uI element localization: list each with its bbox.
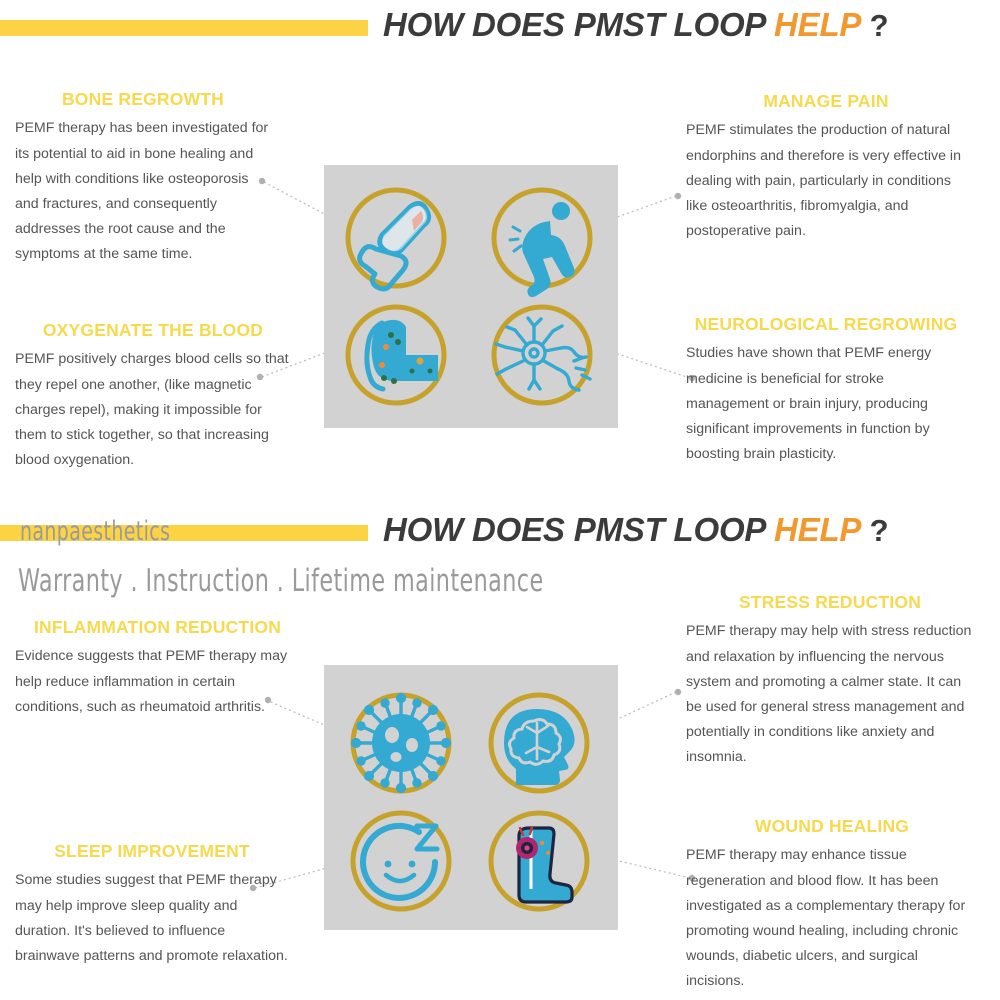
blood-vessel-icon: [348, 307, 444, 403]
title-main: HOW DOES PMST LOOP: [383, 6, 774, 43]
icon-panel-top: [324, 165, 618, 428]
block-title: MANAGE PAIN: [686, 90, 966, 112]
icon-panel-bottom: [324, 665, 618, 930]
block-title: OXYGENATE THE BLOOD: [15, 319, 291, 341]
block-oxygenate-the-blood: OXYGENATE THE BLOOD PEMF positively char…: [15, 319, 291, 473]
block-title: SLEEP IMPROVEMENT: [15, 840, 289, 862]
sleep-face-zzz-icon: [353, 813, 449, 909]
block-body: PEMF therapy may enhance tissue regenera…: [686, 843, 978, 994]
block-manage-pain: MANAGE PAIN PEMF stimulates the producti…: [686, 90, 966, 244]
block-title: NEUROLOGICAL REGROWING: [686, 313, 966, 335]
block-stress-reduction: STRESS REDUCTION PEMF therapy may help w…: [686, 591, 974, 771]
title-question-mark: ?: [861, 513, 888, 548]
head-brain-icon: [491, 695, 587, 791]
title-main: HOW DOES PMST LOOP: [383, 511, 774, 548]
wounded-foot-icon: [491, 813, 587, 909]
block-title: BONE REGROWTH: [15, 88, 271, 110]
page-title: HOW DOES PMST LOOP HELP ?: [383, 511, 888, 549]
block-sleep-improvement: SLEEP IMPROVEMENT Some studies suggest t…: [15, 840, 289, 969]
neuron-icon: [494, 307, 590, 403]
block-title: INFLAMMATION REDUCTION: [15, 616, 300, 638]
watermark-brand: nanpaesthetics: [20, 516, 170, 547]
back-pain-person-icon: [494, 190, 590, 297]
block-title: STRESS REDUCTION: [686, 591, 974, 613]
block-body: PEMF therapy has been investigated for i…: [15, 116, 271, 267]
title-accent: HELP: [774, 6, 861, 43]
header-accent-bar: [0, 20, 368, 36]
block-body: PEMF positively charges blood cells so t…: [15, 347, 291, 473]
block-bone-regrowth: BONE REGROWTH PEMF therapy has been inve…: [15, 88, 271, 268]
watermark-tagline: Warranty . Instruction . Lifetime mainte…: [18, 563, 544, 599]
block-title: WOUND HEALING: [686, 815, 978, 837]
bone-joint-icon: [348, 190, 444, 289]
block-neurological-regrowing: NEUROLOGICAL REGROWING Studies have show…: [686, 313, 966, 467]
virus-cell-icon: [353, 695, 450, 792]
title-question-mark: ?: [861, 8, 888, 43]
block-body: Some studies suggest that PEMF therapy m…: [15, 868, 289, 969]
block-body: Evidence suggests that PEMF therapy may …: [15, 644, 300, 720]
section-1-header: HOW DOES PMST LOOP HELP ?: [0, 0, 1000, 56]
block-body: Studies have shown that PEMF energy medi…: [686, 341, 966, 467]
infographic-page: HOW DOES PMST LOOP HELP ?: [0, 0, 1000, 1000]
block-body: PEMF stimulates the production of natura…: [686, 118, 966, 244]
page-title: HOW DOES PMST LOOP HELP ?: [383, 6, 888, 44]
block-inflammation-reduction: INFLAMMATION REDUCTION Evidence suggests…: [15, 616, 300, 720]
block-wound-healing: WOUND HEALING PEMF therapy may enhance t…: [686, 815, 978, 995]
title-accent: HELP: [774, 511, 861, 548]
block-body: PEMF therapy may help with stress reduct…: [686, 619, 974, 770]
